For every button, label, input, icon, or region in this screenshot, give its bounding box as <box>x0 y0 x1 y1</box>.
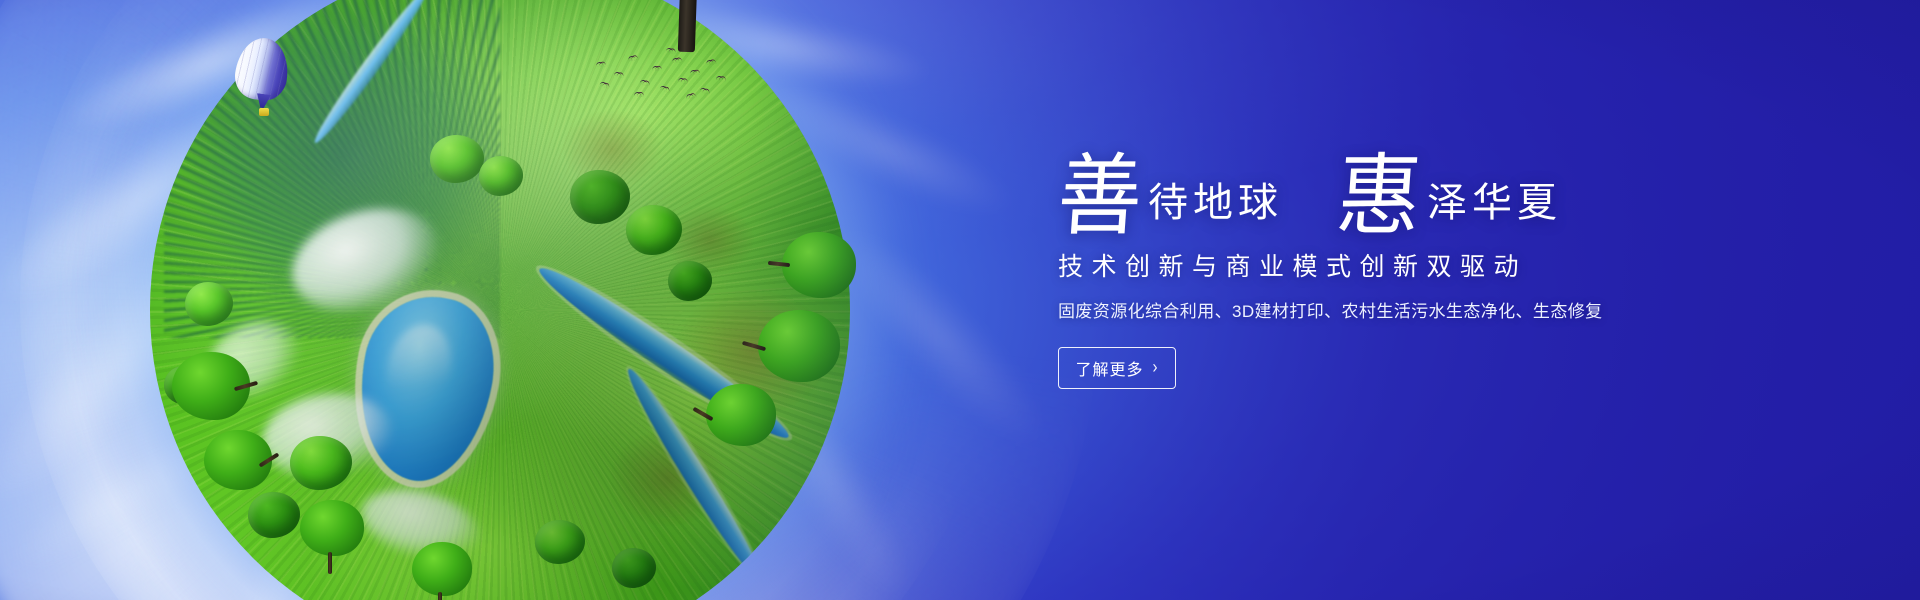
description: 固废资源化综合利用、3D建材打印、农村生活污水生态净化、生态修复 <box>1058 302 1838 322</box>
subtitle: 技术创新与商业模式创新双驱动 <box>1058 254 1838 282</box>
headline-text-zehuaxia: 泽华夏 <box>1427 183 1562 232</box>
learn-more-label: 了解更多 <box>1075 356 1143 380</box>
headline-text-daidiqiu: 待地球 <box>1148 183 1283 232</box>
hero-content: 善 待地球 惠 泽华夏 技术创新与商业模式创新双驱动 固废资源化综合利用、3D建… <box>1058 136 1838 389</box>
headline-char-shan: 善 <box>1055 158 1144 235</box>
headline: 善 待地球 惠 泽华夏 <box>1058 136 1838 232</box>
chevron-right-icon: › <box>1153 359 1159 378</box>
eco-hero-banner: 善 待地球 惠 泽华夏 技术创新与商业模式创新双驱动 固废资源化综合利用、3D建… <box>0 0 1920 600</box>
learn-more-button[interactable]: 了解更多 › <box>1058 347 1176 389</box>
headline-char-hui: 惠 <box>1334 158 1423 235</box>
